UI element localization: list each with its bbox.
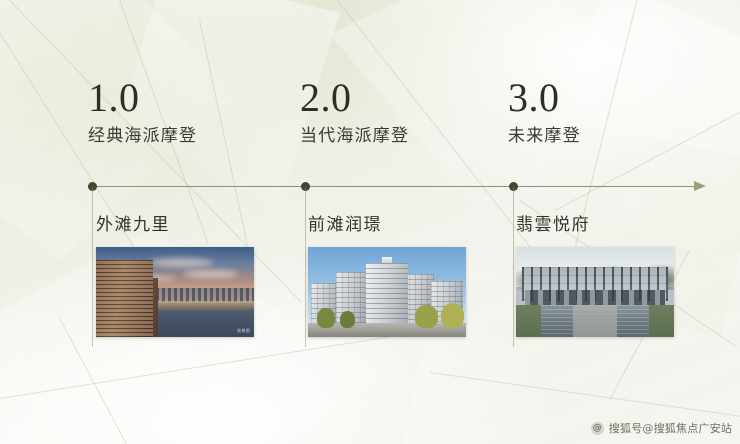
era-number: 2.0	[300, 78, 409, 118]
era-block-2: 2.0 当代海派摩登	[300, 78, 409, 145]
era-heading-row: 1.0 经典海派摩登 2.0 当代海派摩登 3.0 未来摩登	[0, 0, 740, 186]
photo-caption: 效果图	[237, 328, 250, 334]
timeline-node-stem-3	[513, 187, 514, 347]
project-name: 翡雲悦府	[516, 210, 674, 235]
timeline-node-stem-2	[305, 187, 306, 347]
photo-cloud	[184, 270, 238, 277]
photo-tree	[441, 303, 465, 328]
photo-tree	[415, 305, 437, 328]
project-card-3[interactable]: 翡雲悦府	[516, 210, 674, 337]
era-subtitle: 未来摩登	[508, 128, 581, 145]
sohu-logo-icon: @	[591, 422, 604, 435]
slide-canvas: 1.0 经典海派摩登 2.0 当代海派摩登 3.0 未来摩登 外滩九里	[0, 0, 740, 444]
photo-center-tower	[366, 263, 407, 322]
photo-residential-tower	[96, 260, 153, 337]
era-number: 1.0	[88, 78, 197, 118]
paper-crease-line	[0, 331, 425, 399]
project-card-1[interactable]: 外滩九里 效果图	[96, 210, 254, 337]
project-photo-colonnade-reflecting-pool[interactable]	[516, 247, 674, 337]
project-photo-art-deco-midrise-complex[interactable]	[308, 247, 466, 337]
project-name: 前滩润璟	[308, 210, 466, 235]
timeline-axis	[88, 186, 700, 187]
photo-tree	[340, 311, 356, 328]
project-card-2[interactable]: 前滩润璟	[308, 210, 466, 337]
timeline-arrow-icon	[694, 181, 706, 191]
project-name: 外滩九里	[96, 210, 254, 235]
photo-cloud	[150, 258, 213, 267]
photo-tree	[317, 308, 334, 328]
project-photo-riverside-dusk-skyline[interactable]: 效果图	[96, 247, 254, 337]
era-subtitle: 当代海派摩登	[300, 128, 409, 145]
era-subtitle: 经典海派摩登	[88, 128, 197, 145]
timeline-node-stem-1	[92, 187, 93, 347]
photo-walkway	[573, 305, 617, 337]
era-number: 3.0	[508, 78, 581, 118]
paper-crease-line	[430, 372, 740, 419]
watermark: @ 搜狐号@搜狐焦点广安站	[591, 420, 732, 436]
watermark-text: 搜狐号@搜狐焦点广安站	[609, 420, 732, 436]
era-block-1: 1.0 经典海派摩登	[88, 78, 197, 145]
era-block-3: 3.0 未来摩登	[508, 78, 581, 145]
